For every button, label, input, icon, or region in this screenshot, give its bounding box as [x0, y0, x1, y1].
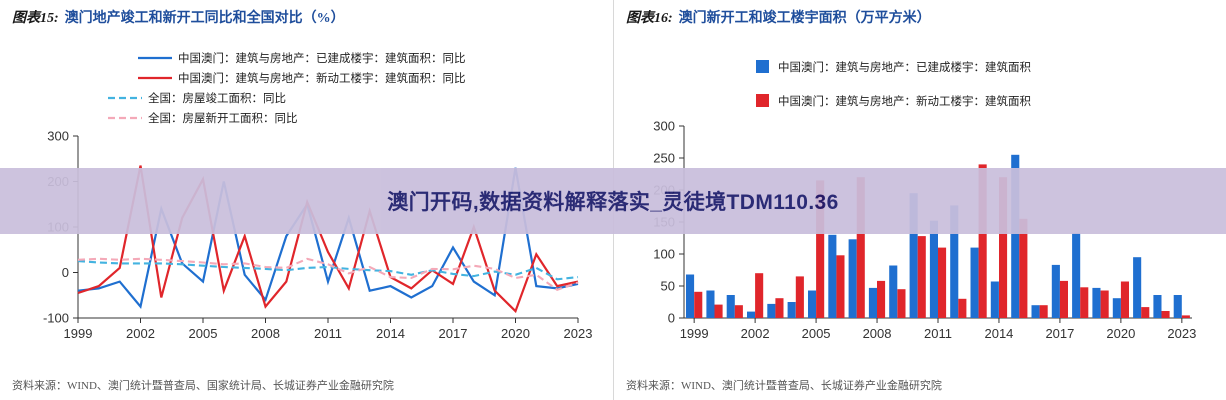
- chart-title-right: 图表16: 澳门新开工和竣工楼宇面积（万平方米）: [626, 6, 1217, 28]
- bar-1-2011: [938, 248, 946, 318]
- bar-0-2001: [727, 295, 735, 318]
- x-tick-label: 2017: [1045, 326, 1074, 341]
- chart-title-left: 图表15: 澳门地产竣工和新开工同比和全国对比（%）: [12, 6, 603, 28]
- bar-0-1999: [686, 275, 694, 319]
- source-right: 资料来源：WIND、澳门统计暨普查局、长城证券产业金融研究院: [626, 377, 942, 393]
- bar-0-2014: [991, 282, 999, 319]
- chart-tag-left: 图表15:: [12, 7, 59, 27]
- bar-1-2003: [775, 298, 783, 318]
- y-tick-label: 0: [62, 265, 69, 280]
- bar-1-2018: [1080, 287, 1088, 318]
- bar-0-2002: [747, 312, 755, 318]
- bar-0-2020: [1113, 298, 1121, 318]
- legend-label-0: 中国澳门：建筑与房地产：已建成楼宇：建筑面积：同比: [178, 51, 466, 65]
- x-tick-label: 1999: [680, 326, 709, 341]
- legend-label-3: 全国：房屋新开工面积：同比: [148, 111, 298, 125]
- y-tick-label: 300: [653, 119, 675, 134]
- bar-0-2021: [1133, 257, 1141, 318]
- y-tick-label: 250: [653, 151, 675, 166]
- bar-1-2016: [1040, 305, 1048, 318]
- bar-0-2016: [1032, 305, 1040, 318]
- x-tick-label: 2002: [126, 326, 155, 341]
- bar-1-2022: [1162, 311, 1170, 318]
- chart-title-text-left: 澳门地产竣工和新开工同比和全国对比（%）: [65, 7, 345, 27]
- bar-0-2013: [971, 248, 979, 318]
- x-tick-label: 2014: [376, 326, 405, 341]
- bar-1-2012: [958, 299, 966, 318]
- x-tick-label: 2005: [802, 326, 831, 341]
- bar-0-2007: [849, 239, 857, 318]
- bar-1-2023: [1182, 315, 1190, 318]
- bar-1-2001: [735, 305, 743, 318]
- legend-label-2: 全国：房屋竣工面积：同比: [148, 91, 286, 105]
- x-tick-label: 2011: [314, 326, 342, 341]
- bar-0-2004: [788, 302, 796, 318]
- y-tick-label: 100: [653, 247, 675, 262]
- y-tick-label: -100: [43, 311, 69, 326]
- line-series-3: [78, 259, 578, 290]
- bar-0-2022: [1153, 295, 1161, 318]
- legend-label-1: 中国澳门：建筑与房地产：新动工楼宇：建筑面积: [778, 94, 1031, 108]
- bar-1-2008: [877, 281, 885, 318]
- bar-1-2021: [1141, 307, 1149, 318]
- legend-label-1: 中国澳门：建筑与房地产：新动工楼宇：建筑面积：同比: [178, 71, 466, 85]
- bar-1-2004: [796, 276, 804, 318]
- bar-0-2023: [1174, 295, 1182, 318]
- x-tick-label: 2011: [924, 326, 952, 341]
- bar-1-2019: [1101, 291, 1109, 319]
- bar-1-1999: [694, 292, 702, 318]
- bar-1-2002: [755, 273, 763, 318]
- x-tick-label: 2008: [863, 326, 892, 341]
- line-chart-legend: 中国澳门：建筑与房地产：已建成楼宇：建筑面积：同比 中国澳门：建筑与房地产：新动…: [108, 51, 466, 125]
- bar-1-2010: [918, 236, 926, 318]
- chart-tag-right: 图表16:: [626, 7, 673, 27]
- bar-0-2018: [1072, 233, 1080, 318]
- bar-0-2008: [869, 288, 877, 318]
- bar-1-2006: [836, 255, 844, 318]
- bar-0-2005: [808, 291, 816, 319]
- x-tick-label: 2008: [251, 326, 280, 341]
- bar-0-2019: [1092, 288, 1100, 318]
- legend-label-0: 中国澳门：建筑与房地产：已建成楼宇：建筑面积: [778, 60, 1031, 74]
- watermark-text: 澳门开码,数据资料解释落实_灵徒境TDM110.36: [387, 186, 838, 216]
- bar-0-2006: [828, 235, 836, 318]
- x-tick-label: 2020: [501, 326, 530, 341]
- bar-1-2020: [1121, 282, 1129, 319]
- x-tick-label: 2023: [1167, 326, 1196, 341]
- x-tick-label: 2014: [984, 326, 1013, 341]
- y-tick-label: 0: [668, 311, 675, 326]
- bar-1-2017: [1060, 281, 1068, 318]
- x-tick-label: 1999: [64, 326, 93, 341]
- bar-0-2011: [930, 221, 938, 318]
- x-tick-label: 2005: [189, 326, 218, 341]
- x-tick-label: 2023: [564, 326, 593, 341]
- bar-0-2000: [706, 291, 714, 319]
- bar-0-2003: [767, 304, 775, 318]
- y-tick-label: 300: [47, 129, 69, 144]
- x-tick-label: 2017: [439, 326, 468, 341]
- x-tick-label: 2020: [1106, 326, 1135, 341]
- x-tick-label: 2002: [741, 326, 770, 341]
- source-left: 资料来源：WIND、澳门统计暨普查局、国家统计局、长城证券产业金融研究院: [12, 377, 394, 393]
- bar-1-2000: [715, 305, 723, 318]
- bar-0-2009: [889, 266, 897, 319]
- watermark-banner: 澳门开码,数据资料解释落实_灵徒境TDM110.36: [0, 168, 1226, 234]
- bar-chart-legend: 中国澳门：建筑与房地产：已建成楼宇：建筑面积 中国澳门：建筑与房地产：新动工楼宇…: [756, 60, 1031, 108]
- chart-title-text-right: 澳门新开工和竣工楼宇面积（万平方米）: [679, 7, 931, 27]
- y-tick-label: 50: [661, 279, 675, 294]
- bar-0-2017: [1052, 265, 1060, 318]
- bar-1-2009: [897, 289, 905, 318]
